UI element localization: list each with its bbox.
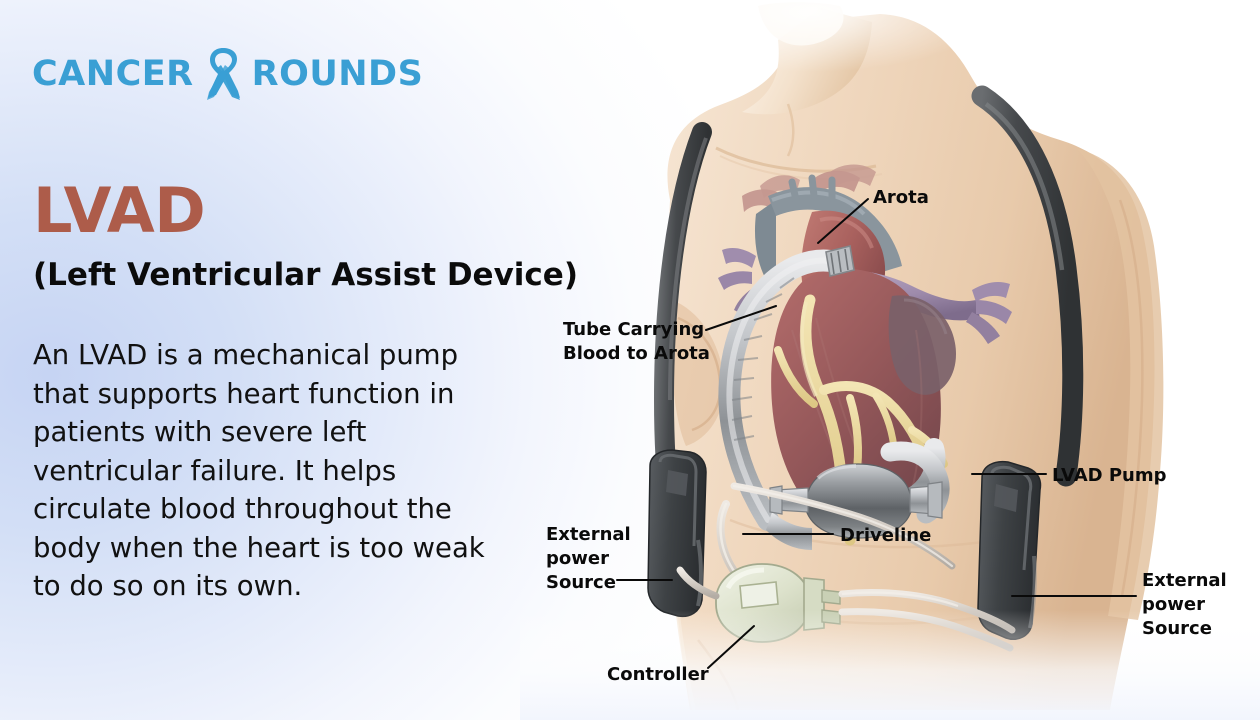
brand-word-cancer: CANCER xyxy=(32,57,194,92)
brand-logo[interactable]: CANCER ROUNDS xyxy=(32,44,423,104)
brand-word-rounds: ROUNDS xyxy=(252,57,424,92)
callout-label-lvad-pump: LVAD Pump xyxy=(1052,464,1167,488)
callout-label-controller: Controller xyxy=(607,663,709,687)
callout-label-aorta: Arota xyxy=(873,186,929,210)
callout-label-driveline: Driveline xyxy=(840,524,931,548)
battery-pack-left xyxy=(648,450,706,616)
callout-label-external-power-right: External power Source xyxy=(1142,569,1227,640)
awareness-ribbon-icon xyxy=(196,45,250,103)
page-subtitle: (Left Ventricular Assist Device) xyxy=(33,258,578,292)
callout-label-tube: Tube Carrying Blood to Arota xyxy=(563,318,710,366)
page-title: LVAD xyxy=(33,179,205,243)
description-paragraph: An LVAD is a mechanical pump that suppor… xyxy=(33,336,485,606)
infographic-canvas: CANCER ROUNDS LVAD (Left Ventricular Ass… xyxy=(0,0,1260,720)
callout-label-external-power-left: External power Source xyxy=(546,523,631,594)
